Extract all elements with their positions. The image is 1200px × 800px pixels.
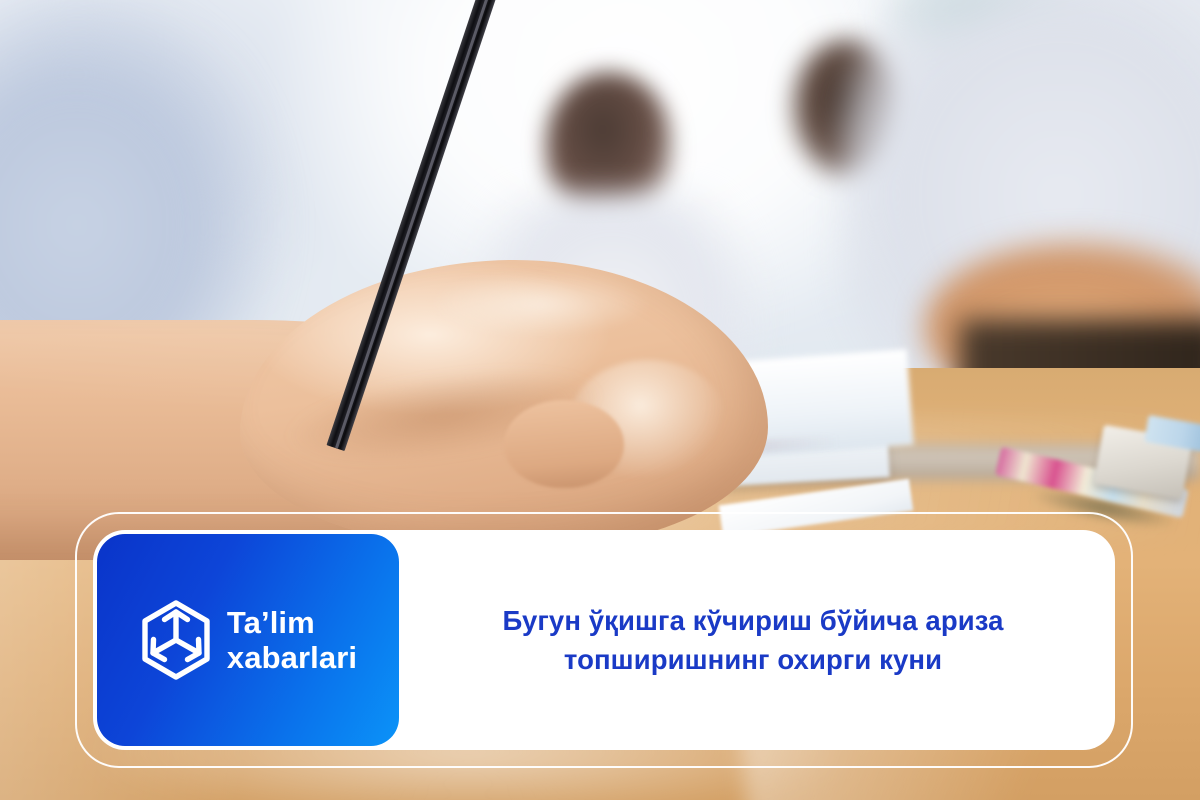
brand-name-line2: xabarlari	[227, 640, 357, 675]
brand-logo-text: Ta’lim xabarlari	[227, 605, 357, 676]
headline-container: Бугун ўқишга кўчириш бўйича ариза топшир…	[403, 530, 1115, 750]
banner-stage: Ta’lim xabarlari Бугун ўқишга кўчириш бў…	[0, 0, 1200, 800]
cube-arrows-icon	[139, 599, 213, 681]
brand-name-line1: Ta’lim	[227, 605, 315, 640]
brand-logo-block[interactable]: Ta’lim xabarlari	[97, 534, 399, 746]
news-banner-card: Ta’lim xabarlari Бугун ўқишга кўчириш бў…	[93, 530, 1115, 750]
hand-highlight	[432, 272, 648, 336]
headline-line-2: топширишнинг охирги куни	[564, 644, 942, 675]
news-headline: Бугун ўқишга кўчириш бўйича ариза топшир…	[443, 601, 1063, 679]
fingertip	[504, 400, 624, 488]
headline-line-1: Бугун ўқишга кўчириш бўйича ариза	[502, 605, 1003, 636]
